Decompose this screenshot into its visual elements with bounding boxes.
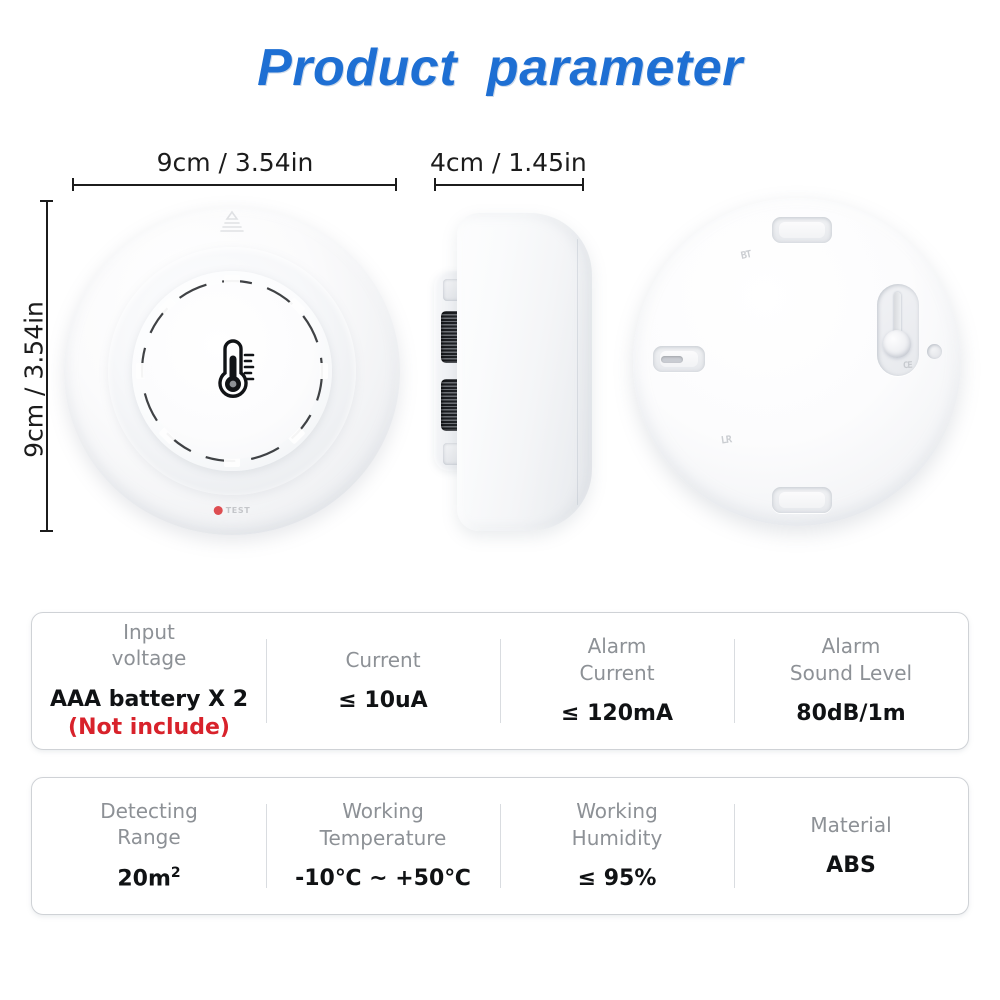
- page-title: Product parameter: [257, 38, 743, 98]
- measurement-rule-front-height: [40, 200, 53, 532]
- spec-value: 20m2: [117, 864, 180, 894]
- spec-cell-working-humidity: Working Humidity ≤ 95%: [500, 778, 734, 914]
- sound-wave-icon: [217, 209, 247, 235]
- spec-label: Working Temperature: [320, 798, 447, 851]
- back-marking-2: LR: [720, 434, 731, 446]
- spec-label: Working Humidity: [572, 798, 663, 851]
- spec-label: Material: [810, 812, 891, 838]
- spec-cell-material: Material ABS: [734, 778, 968, 914]
- measurement-rule-side-width: [434, 178, 584, 191]
- keyhole-notch: [661, 356, 683, 363]
- detector-side-body: [457, 213, 592, 531]
- spec-value-text: AAA battery X 2: [50, 687, 248, 712]
- spec-value: ≤ 95%: [578, 865, 657, 894]
- spec-label: Current: [345, 647, 420, 673]
- rule-bar: [72, 184, 397, 186]
- spec-value-note: (Not include): [50, 714, 248, 743]
- spec-value: ≤ 10uA: [338, 687, 427, 716]
- dimension-label-side-width: 4cm / 1.45in: [430, 148, 585, 177]
- mounting-slot-bottom: [772, 487, 832, 513]
- dimension-label-front-width: 9cm / 3.54in: [70, 148, 400, 177]
- spec-label: Alarm Sound Level: [790, 633, 912, 686]
- spec-table-row-2: Detecting Range 20m2 Working Temperature…: [31, 777, 969, 915]
- spec-value-superscript: 2: [171, 865, 181, 881]
- rule-cap-bottom: [40, 530, 53, 532]
- test-indicator-dot: [214, 506, 223, 515]
- rule-cap-right: [395, 178, 397, 191]
- test-button[interactable]: TEST: [214, 506, 251, 515]
- spec-cell-alarm-current: Alarm Current ≤ 120mA: [500, 613, 734, 749]
- spec-cell-alarm-sound-level: Alarm Sound Level 80dB/1m: [734, 613, 968, 749]
- spec-value: ABS: [826, 852, 876, 881]
- spec-cell-working-temperature: Working Temperature -10℃ ~ +50℃: [266, 778, 500, 914]
- spec-label: Detecting Range: [100, 798, 198, 851]
- spec-value-text: 20m: [117, 867, 171, 892]
- page-header: Product parameter: [0, 38, 1000, 98]
- test-button-label: TEST: [226, 506, 251, 515]
- spec-value: -10℃ ~ +50℃: [295, 865, 471, 894]
- mounting-slot-inner: [779, 492, 825, 508]
- spec-cell-detecting-range: Detecting Range 20m2: [32, 778, 266, 914]
- spec-cell-input-voltage: Input voltage AAA battery X 2 (Not inclu…: [32, 613, 266, 749]
- spec-label: Alarm Current: [579, 633, 654, 686]
- spec-cell-current: Current ≤ 10uA: [266, 613, 500, 749]
- measurement-rule-front-width: [72, 178, 397, 191]
- rule-cap-right: [582, 178, 584, 191]
- product-showcase: 9cm / 3.54in 4cm / 1.45in 9cm / 3.54in: [0, 130, 1000, 580]
- product-side-view: [425, 193, 600, 548]
- thermometer-icon: [205, 339, 259, 399]
- back-marking-1: BT: [740, 249, 752, 262]
- rule-bar: [46, 200, 48, 532]
- spec-value: AAA battery X 2 (Not include): [50, 686, 248, 743]
- mounting-slot-top: [772, 217, 832, 243]
- thermometer-bulb: [883, 330, 911, 358]
- back-marking-3: CE: [903, 361, 913, 372]
- mounting-slot-inner: [779, 222, 825, 238]
- spec-value: 80dB/1m: [796, 700, 905, 729]
- detector-back-plate: BT LR CE: [633, 198, 961, 526]
- spec-value: ≤ 120mA: [561, 700, 673, 729]
- screw-hole: [927, 344, 942, 359]
- spec-label: Input voltage: [112, 619, 187, 672]
- rule-bar: [434, 184, 584, 186]
- product-front-view: TEST: [58, 195, 406, 543]
- product-back-view: BT LR CE: [628, 192, 968, 544]
- spec-table-row-1: Input voltage AAA battery X 2 (Not inclu…: [31, 612, 969, 750]
